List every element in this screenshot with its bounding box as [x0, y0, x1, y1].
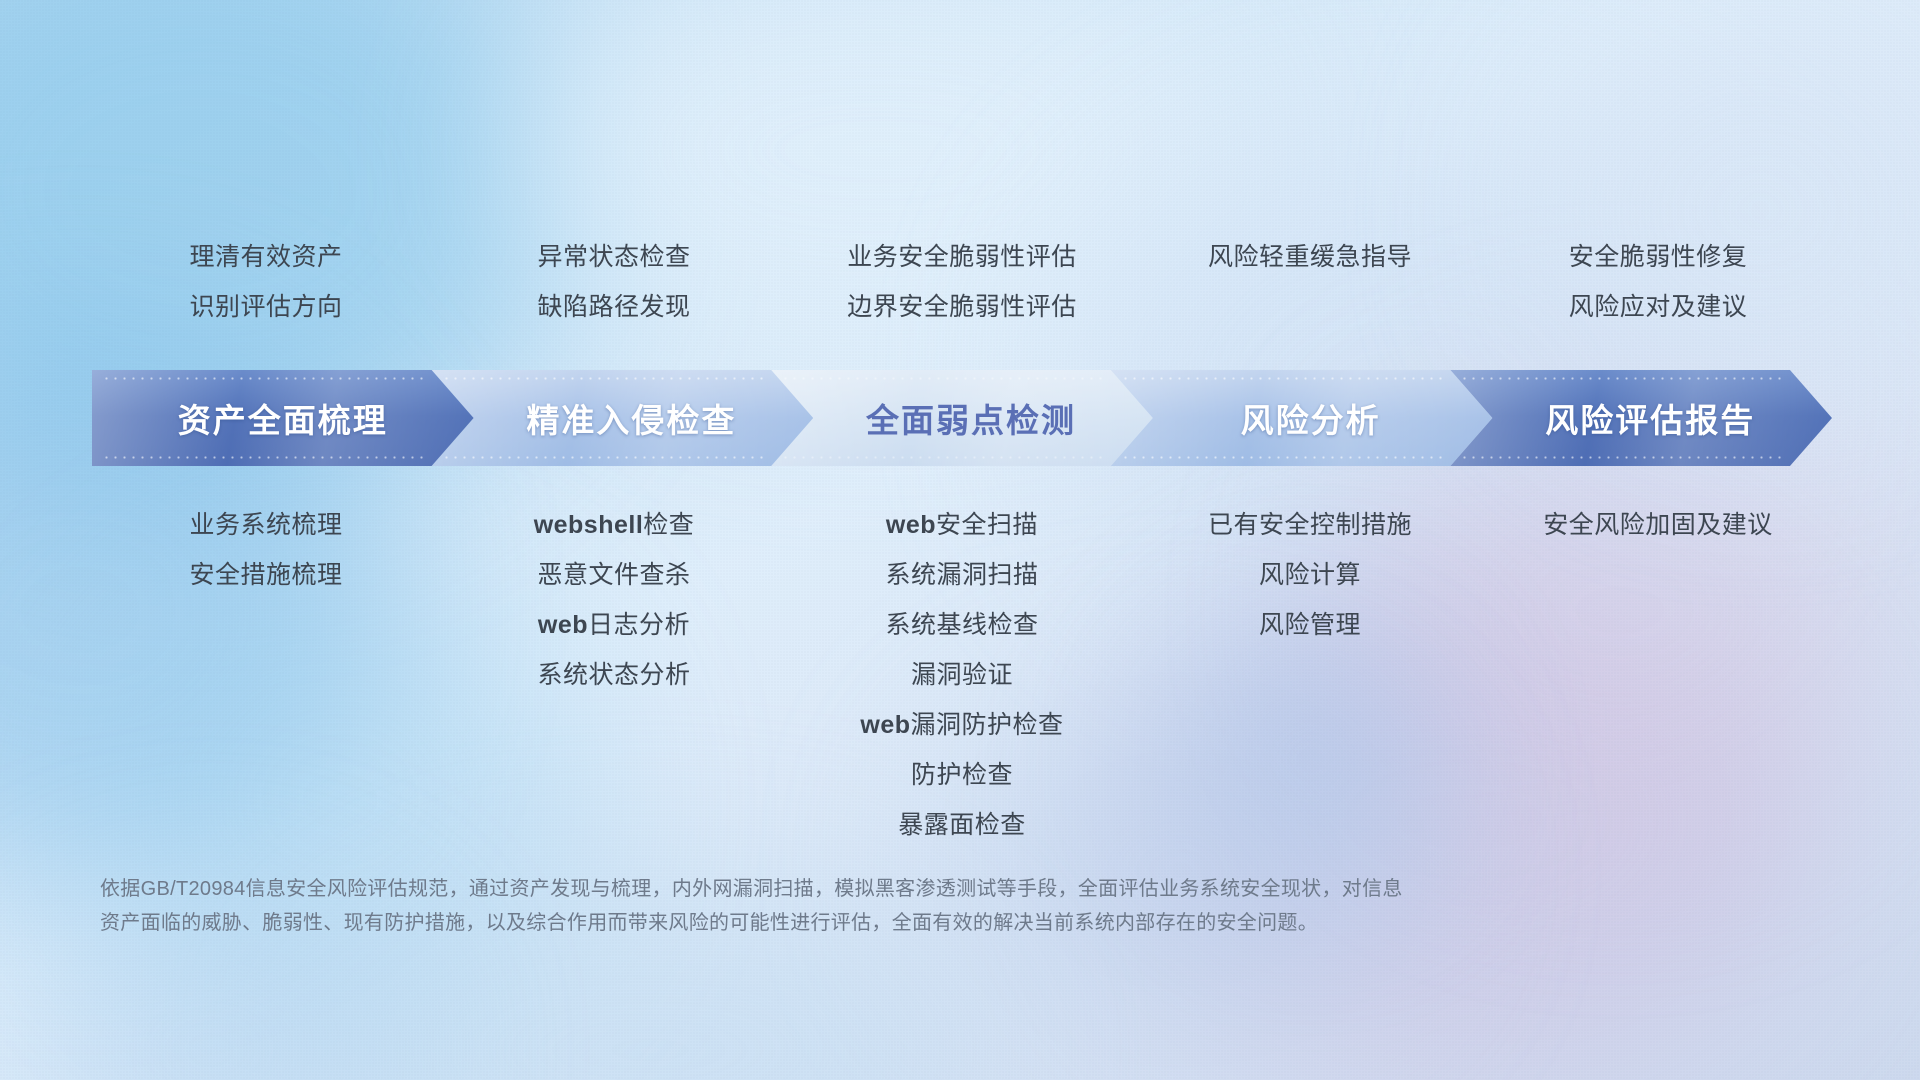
top-note: 安全脆弱性修复: [1569, 232, 1748, 282]
stage-items-col-risk-analysis: 已有安全控制措施风险计算风险管理: [1136, 500, 1484, 850]
stage-items-col-asset-inventory: 业务系统梳理安全措施梳理: [92, 500, 440, 850]
stage-items-row: 业务系统梳理安全措施梳理webshell检查恶意文件查杀web日志分析系统状态分…: [92, 500, 1832, 850]
stage-item-prefix: web: [538, 611, 588, 639]
top-note: 识别评估方向: [189, 282, 342, 332]
stage-item: 安全措施梳理: [189, 550, 342, 600]
top-note: 边界安全脆弱性评估: [847, 282, 1077, 332]
top-notes-col-risk-report: 安全脆弱性修复风险应对及建议: [1484, 232, 1832, 332]
chevron-dot-border-bottom: [781, 456, 1107, 459]
stage-chevron-risk-report[interactable]: 风险评估报告: [1450, 370, 1832, 466]
chevron-dot-border-top: [1460, 377, 1786, 380]
stage-item: 系统状态分析: [537, 650, 690, 700]
stage-item: 恶意文件查杀: [537, 550, 690, 600]
top-notes-col-intrusion-check: 异常状态检查缺陷路径发现: [440, 232, 788, 332]
stage-item: 漏洞验证: [911, 650, 1013, 700]
stage-items-col-intrusion-check: webshell检查恶意文件查杀web日志分析系统状态分析: [440, 500, 788, 850]
top-note: 业务安全脆弱性评估: [847, 232, 1077, 282]
stage-item: web安全扫描: [886, 500, 1038, 550]
stage-item: 系统基线检查: [885, 600, 1038, 650]
stage-item: 系统漏洞扫描: [885, 550, 1038, 600]
footer-description: 依据GB/T20984信息安全风险评估规范，通过资产发现与梳理，内外网漏洞扫描，…: [100, 872, 1680, 940]
stage-item: 风险管理: [1259, 600, 1361, 650]
stage-items-col-weakness-detection: web安全扫描系统漏洞扫描系统基线检查漏洞验证web漏洞防护检查防护检查暴露面检…: [788, 500, 1136, 850]
stage-items-col-risk-report: 安全风险加固及建议: [1484, 500, 1832, 850]
stage-title-risk-report: 风险评估报告: [1545, 394, 1755, 442]
chevron-dot-border-top: [1121, 377, 1447, 380]
top-note: 风险轻重缓急指导: [1208, 232, 1412, 282]
stage-item: webshell检查: [534, 500, 695, 550]
top-note: 理清有效资产: [189, 232, 342, 282]
footer-line-2: 资产面临的威胁、脆弱性、现有防护措施，以及综合作用而带来风险的可能性进行评估，全…: [100, 906, 1680, 940]
stage-item-prefix: webshell: [534, 511, 644, 539]
top-notes-col-weakness-detection: 业务安全脆弱性评估边界安全脆弱性评估: [788, 232, 1136, 332]
stage-title-asset-inventory: 资产全面梳理: [178, 394, 388, 442]
stage-chevron-risk-analysis[interactable]: 风险分析: [1111, 370, 1493, 466]
stage-item-text: 日志分析: [588, 611, 690, 639]
stage-item: 风险计算: [1259, 550, 1361, 600]
chevron-dot-border-bottom: [1121, 456, 1447, 459]
stage-item: 防护检查: [911, 750, 1013, 800]
stage-item: web漏洞防护检查: [860, 700, 1063, 750]
top-note: 缺陷路径发现: [537, 282, 690, 332]
stage-item-prefix: web: [860, 711, 910, 739]
stage-item-text: 安全扫描: [936, 511, 1038, 539]
chevron-dot-border-top: [442, 377, 768, 380]
stage-title-intrusion-check: 精准入侵检查: [526, 394, 736, 442]
chevron-dot-border-bottom: [442, 456, 768, 459]
stage-banner: 资产全面梳理精准入侵检查全面弱点检测风险分析风险评估报告: [92, 370, 1832, 466]
stage-item: 暴露面检查: [898, 800, 1026, 850]
stage-title-weakness-detection: 全面弱点检测: [866, 394, 1076, 442]
chevron-dot-border-bottom: [1460, 456, 1786, 459]
top-notes-col-asset-inventory: 理清有效资产识别评估方向: [92, 232, 440, 332]
stage-item: 安全风险加固及建议: [1543, 500, 1773, 550]
top-notes-row: 理清有效资产识别评估方向异常状态检查缺陷路径发现业务安全脆弱性评估边界安全脆弱性…: [92, 232, 1832, 332]
chevron-dot-border-bottom: [102, 456, 428, 459]
top-note: 异常状态检查: [537, 232, 690, 282]
stage-chevron-intrusion-check[interactable]: 精准入侵检查: [432, 370, 814, 466]
stage-item: 业务系统梳理: [189, 500, 342, 550]
top-note: 风险应对及建议: [1569, 282, 1748, 332]
stage-item-text: 检查: [643, 511, 694, 539]
chevron-dot-border-top: [102, 377, 428, 380]
stage-item: web日志分析: [538, 600, 690, 650]
stage-item-text: 漏洞防护检查: [911, 711, 1064, 739]
stage-chevron-asset-inventory[interactable]: 资产全面梳理: [92, 370, 474, 466]
stage-title-risk-analysis: 风险分析: [1241, 394, 1381, 442]
stage-item: 已有安全控制措施: [1208, 500, 1412, 550]
footer-line-1: 依据GB/T20984信息安全风险评估规范，通过资产发现与梳理，内外网漏洞扫描，…: [100, 872, 1680, 906]
chevron-dot-border-top: [781, 377, 1107, 380]
stage-chevron-weakness-detection[interactable]: 全面弱点检测: [771, 370, 1153, 466]
stage-item-prefix: web: [886, 511, 936, 539]
process-diagram: 理清有效资产识别评估方向异常状态检查缺陷路径发现业务安全脆弱性评估边界安全脆弱性…: [0, 0, 1920, 1080]
top-notes-col-risk-analysis: 风险轻重缓急指导: [1136, 232, 1484, 332]
